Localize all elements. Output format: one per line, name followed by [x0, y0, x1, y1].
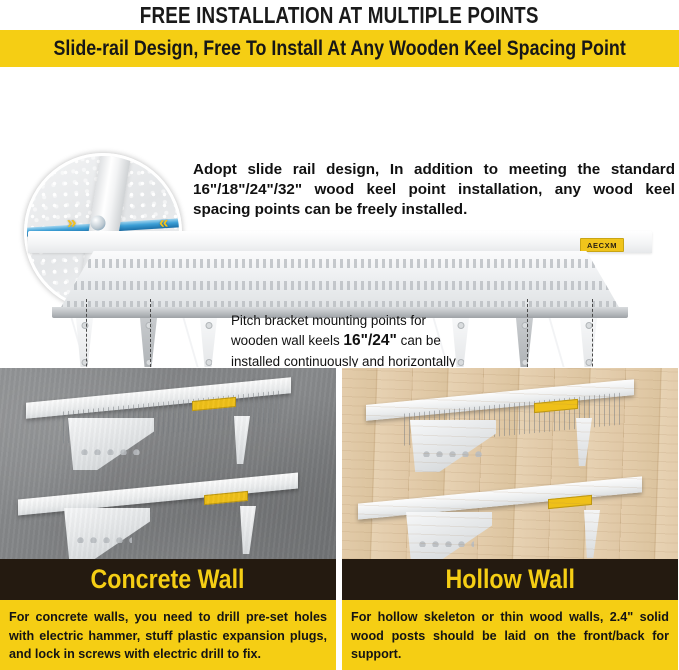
shelf-back-rail: AECXM — [28, 231, 652, 253]
product-diagram-section: Adopt slide rail design, In addition to … — [0, 67, 679, 367]
photo-hollow-wall — [342, 368, 678, 559]
panel-hollow-wall: Hollow Wall For hollow skeleton or thin … — [342, 368, 678, 670]
support-bracket — [576, 418, 592, 466]
shelf-board — [26, 377, 291, 419]
header-subtitle-banner: Slide-rail Design, Free To Install At An… — [0, 30, 679, 67]
dim-leader-left-inner — [150, 299, 151, 367]
support-bracket — [584, 510, 600, 558]
caption-body-concrete: For concrete walls, you need to drill pr… — [0, 600, 336, 670]
shelf-board — [358, 476, 642, 519]
bracket-web — [549, 318, 606, 367]
wall-type-panels: Concrete Wall For concrete walls, you ne… — [0, 368, 679, 670]
caption-heading-hollow: Hollow Wall — [342, 559, 678, 600]
shelf-board — [366, 379, 634, 421]
bracket-holes — [74, 534, 132, 543]
dim-leader-left-outer — [86, 299, 87, 367]
bracket-holes — [78, 446, 140, 455]
support-bracket — [68, 418, 154, 470]
shelf-unit-lower — [18, 486, 298, 550]
brand-badge — [204, 491, 248, 505]
bracket-holes — [420, 448, 482, 457]
header-title-bar: FREE INSTALLATION AT MULTIPLE POINTS — [0, 0, 679, 30]
caption-body-hollow: For hollow skeleton or thin wood walls, … — [342, 600, 678, 670]
brand-badge — [192, 397, 236, 411]
panel-concrete-wall: Concrete Wall For concrete walls, you ne… — [0, 368, 336, 670]
dim-leader-right-outer — [592, 299, 593, 367]
shelf-unit-upper — [26, 390, 291, 460]
support-bracket — [64, 508, 150, 559]
mesh-row — [60, 259, 620, 268]
shelf-mesh — [63, 391, 280, 444]
shelf-unit-upper — [366, 392, 634, 462]
mesh-row — [60, 281, 620, 290]
mounting-bracket — [140, 318, 157, 367]
caption-heading-concrete: Concrete Wall — [0, 559, 336, 600]
page-title: FREE INSTALLATION AT MULTIPLE POINTS — [140, 2, 539, 29]
support-bracket — [234, 416, 250, 464]
pitch-description: Pitch bracket mounting points for wooden… — [231, 311, 469, 367]
brand-badge — [534, 399, 578, 413]
shelf-mesh — [404, 392, 624, 445]
dim-leader-right-inner — [527, 299, 528, 367]
support-bracket — [240, 506, 256, 554]
mounting-bracket — [516, 318, 533, 367]
photo-concrete-wall — [0, 368, 336, 559]
caption-heading-text: Concrete Wall — [91, 564, 245, 595]
shelf-mesh-deck — [60, 251, 620, 309]
brand-badge — [548, 495, 592, 509]
diagram-lead-text: Adopt slide rail design, In addition to … — [193, 160, 675, 221]
page-subtitle: Slide-rail Design, Free To Install At An… — [53, 37, 625, 61]
support-bracket — [406, 512, 492, 559]
pitch-emphasis: 16"/24" — [343, 332, 397, 349]
caption-heading-text: Hollow Wall — [445, 564, 574, 595]
shelf-board — [18, 473, 298, 516]
support-bracket — [410, 420, 496, 472]
bracket-holes — [416, 538, 474, 547]
brand-badge: AECXM — [580, 238, 624, 252]
shelf-unit-lower — [358, 490, 642, 554]
